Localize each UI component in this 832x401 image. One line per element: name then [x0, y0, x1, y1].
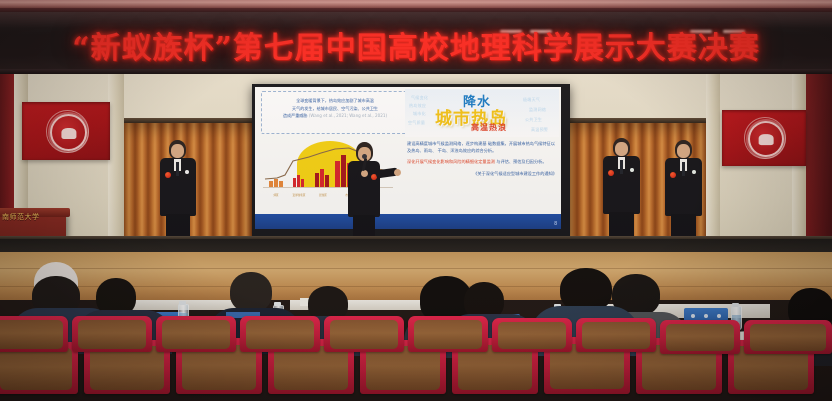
figure-building [325, 175, 329, 187]
figure-zone-label: 郊区 [265, 193, 287, 197]
cloud-word: 公共卫生 [525, 117, 542, 123]
cloud-word: 气候变化 [411, 95, 428, 101]
slide-footer-bar: 8 [255, 214, 561, 229]
auditorium-seat[interactable] [492, 318, 572, 352]
cloud-word: 空气质量 [408, 120, 425, 126]
slide-title-block: 气候变化 热岛效应 城市化 空气质量 极端天气 监测网络 公共卫生 高温预警 降… [405, 89, 559, 137]
callout-citation: (Wang et al., 2021; Wang et al., 2021) [309, 113, 387, 118]
seat-cushion [0, 320, 63, 349]
seat-cushion [162, 320, 231, 349]
projection-screen-frame: 全球变暖背景下，热岛效应加剧了城市高温 天气的发生，给城市居民、空气污染、公共卫… [252, 84, 570, 238]
auditorium-seat[interactable] [576, 318, 656, 352]
cloud-word: 高温预警 [531, 127, 548, 133]
seat-cushion [366, 346, 440, 389]
seat-cushion [414, 320, 483, 349]
slide-text-span: 干岛、浑浊岛效应的综合分析。 [438, 148, 497, 153]
seat-cushion [498, 322, 567, 349]
figure-building [315, 173, 319, 187]
contestant-left [156, 140, 200, 250]
bottle-cap [179, 301, 186, 305]
callout-line-1: 全球变暖背景下，热岛效应加剧了城市高温 [262, 92, 408, 105]
auditorium-seat[interactable] [744, 320, 832, 354]
red-flower-badge-icon [670, 172, 676, 178]
red-flower-badge-icon [165, 172, 171, 178]
auditorium-seat[interactable] [324, 316, 404, 352]
slide-page-number: 8 [554, 221, 557, 227]
name-badge-icon [185, 170, 189, 174]
callout-line-3: 造成严重威胁 (Wang et al., 2021; Wang et al., … [262, 112, 408, 120]
seat-cushion [330, 320, 399, 349]
name-badge-icon [630, 168, 634, 172]
necktie [176, 162, 179, 176]
head [230, 272, 272, 312]
slide-text-span: 与评估、预估及归因分析。 [496, 159, 546, 164]
figure-building [293, 178, 296, 187]
slide-text-span-highlight: 深化开展气候变化影响和风险的精细化定量监测 [407, 159, 495, 164]
auditorium-scene: “新蚁族杯”第七届中国高校地理科学展示大赛决赛 全球变暖背景下，热岛效应加剧了城… [0, 0, 832, 401]
tissue-box-dot-icon [691, 314, 695, 318]
slide-source-line: 《关于深化气候适应型城市建设工作的通知》 [407, 171, 557, 178]
red-flower-badge-icon [608, 170, 614, 176]
figure-building [269, 181, 273, 187]
event-banner-board: “新蚁族杯”第七届中国高校地理科学展示大赛决赛 [0, 12, 832, 74]
cloud-word: 监测网络 [529, 107, 546, 113]
seat-cushion [274, 346, 348, 390]
contestant-right-2 [662, 140, 706, 250]
callout-line-2: 天气的发生，给城市居民、空气污染、公共卫生 [262, 105, 408, 113]
face [171, 144, 184, 158]
slide-callout-box: 全球变暖背景下，热岛效应加剧了城市高温 天气的发生，给城市居民、空气污染、公共卫… [261, 91, 409, 134]
auditorium-seat[interactable] [72, 316, 152, 352]
seat-cushion [750, 324, 826, 351]
crest-outer-ring [744, 117, 786, 159]
seat-cushion [666, 324, 735, 351]
right-crest-plaque [722, 110, 806, 166]
projection-screen: 全球变暖背景下，热岛效应加剧了城市高温 天气的发生，给城市居民、空气污染、公共卫… [255, 87, 561, 229]
tissue-box-dot-icon [717, 314, 721, 318]
slide-title-heat-wave: 高温热浪 [471, 122, 507, 133]
necktie [682, 162, 685, 176]
event-title-text: “新蚁族杯”第七届中国高校地理科学展示大赛决赛 [0, 23, 832, 67]
cloud-word: 城市化 [413, 111, 426, 117]
slide-text-line: 深化开展气候变化影响和风险的精细化定量监测 与评估、预估及归因分析。 [407, 159, 557, 166]
tissue-box-dot-icon [704, 314, 708, 318]
auditorium-seat[interactable] [156, 316, 236, 352]
auditorium-seat[interactable] [408, 316, 488, 352]
seat-cushion [582, 322, 651, 349]
auditorium-seat[interactable] [660, 320, 740, 354]
figure-building [274, 179, 278, 187]
slide-text-span: 建设高精度城市气候监测网络，逐步构建基 [407, 141, 487, 146]
figure-building [297, 175, 300, 187]
cloud-word: 极端天气 [523, 97, 540, 103]
figure-building [279, 181, 283, 187]
hand-left [361, 170, 368, 177]
contestant-right-1 [600, 138, 644, 250]
slide-body-text: 建设高精度城市气候监测网络，逐步构建基 础数据集，开展城市热岛气候特征以及热岛、… [407, 141, 557, 182]
figure-building [301, 179, 304, 187]
necktie [620, 160, 623, 174]
figure-zone-label: 居住区 [311, 193, 335, 197]
auditorium-seat[interactable] [0, 316, 68, 352]
seat-cushion [78, 320, 147, 349]
stage-front-face [0, 239, 832, 253]
cloud-word: 热岛效应 [409, 103, 426, 109]
podium-university-label: 南师范大学 [2, 212, 60, 222]
face [677, 144, 690, 158]
hand-right [394, 169, 401, 176]
microphone-head-icon [362, 154, 367, 159]
auditorium-seat[interactable] [240, 316, 320, 352]
face [615, 142, 628, 156]
seat-cushion [90, 346, 164, 389]
name-badge-icon [692, 170, 696, 174]
figure-building [320, 169, 324, 187]
crest-outer-ring [46, 110, 89, 153]
figure-zone-label: 近郊住宅区 [287, 193, 311, 197]
seat-cushion [0, 348, 72, 390]
seat-cushion [246, 320, 315, 349]
left-crest-plaque [22, 102, 110, 160]
floor-seam [0, 268, 832, 269]
callout-line-3-text: 造成严重威胁 [283, 113, 308, 118]
bottle-cap [732, 303, 739, 307]
slide-text-line: 建设高精度城市气候监测网络，逐步构建基 础数据集，开展城市热岛气候特征以及热岛、… [407, 141, 557, 154]
